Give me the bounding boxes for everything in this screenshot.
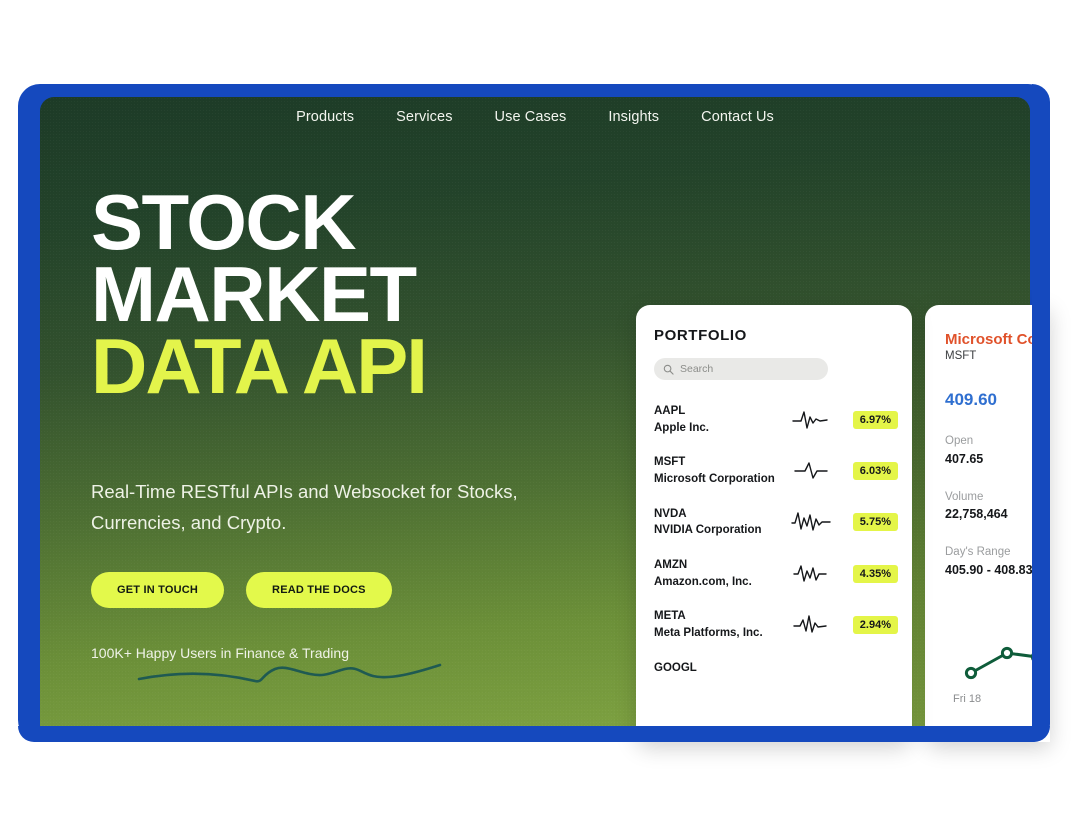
sparkline-icon — [792, 561, 832, 587]
row-sparkline-wrap — [778, 458, 847, 484]
sparkline-icon — [790, 509, 834, 535]
headline-line-3: DATA API — [91, 331, 426, 403]
table-row[interactable]: GOOGL — [636, 651, 912, 686]
row-company: Microsoft Corporation — [654, 471, 772, 488]
sparkline-icon — [793, 458, 831, 484]
sparkline-icon — [792, 612, 832, 638]
table-row[interactable]: AMZN Amazon.com, Inc. 4.35% — [636, 548, 912, 599]
read-the-docs-button[interactable]: READ THE DOCS — [246, 572, 392, 608]
status-badge: 5.75% — [853, 513, 898, 531]
cta-row: GET IN TOUCH READ THE DOCS — [91, 572, 392, 608]
search-placeholder: Search — [680, 363, 713, 375]
status-badge: 4.35% — [853, 565, 898, 583]
row-company: Apple Inc. — [654, 420, 772, 437]
nav-item-contact-us[interactable]: Contact Us — [701, 109, 774, 125]
headline-line-2: MARKET — [91, 259, 426, 331]
squiggle-underline-icon — [135, 657, 445, 697]
row-sparkline-wrap — [778, 612, 847, 638]
portfolio-title: PORTFOLIO — [654, 327, 912, 344]
portfolio-search-input[interactable]: Search — [654, 358, 828, 380]
status-badge: 6.03% — [853, 462, 898, 480]
sparkline-icon — [791, 407, 833, 433]
hero-subtitle: Real-Time RESTful APIs and Websocket for… — [91, 477, 561, 538]
row-company: Amazon.com, Inc. — [654, 574, 772, 591]
row-symbol: NVDA — [654, 506, 772, 523]
frame-bottom-edge — [18, 726, 1050, 742]
nav-item-insights[interactable]: Insights — [608, 109, 659, 125]
nav-item-use-cases[interactable]: Use Cases — [495, 109, 567, 125]
row-sparkline-wrap — [778, 407, 847, 433]
headline-line-1: STOCK — [91, 187, 426, 259]
social-proof-text: 100K+ Happy Users in Finance & Trading — [91, 645, 349, 661]
row-symbol: META — [654, 608, 772, 625]
status-badge: 2.94% — [853, 616, 898, 634]
table-row[interactable]: MSFT Microsoft Corporation 6.03% — [636, 445, 912, 496]
chart-axis-label: Fri 18 — [953, 693, 981, 705]
hero-headline: STOCK MARKET DATA API — [91, 187, 426, 402]
row-symbol: MSFT — [654, 454, 772, 471]
row-symbol: AMZN — [654, 557, 772, 574]
get-in-touch-button[interactable]: GET IN TOUCH — [91, 572, 224, 608]
main-nav: Products Services Use Cases Insights Con… — [40, 109, 1030, 125]
nav-item-services[interactable]: Services — [396, 109, 452, 125]
row-names: NVDA NVIDIA Corporation — [654, 506, 772, 539]
stock-list: AAPL Apple Inc. 6.97% MSFT Microsoft Cor… — [636, 394, 912, 685]
portfolio-card: PORTFOLIO Search AAPL Apple Inc. 6.97% — [636, 305, 912, 742]
row-names: MSFT Microsoft Corporation — [654, 454, 772, 487]
page-root: Products Services Use Cases Insights Con… — [0, 0, 1080, 835]
row-names: AMZN Amazon.com, Inc. — [654, 557, 772, 590]
row-names: META Meta Platforms, Inc. — [654, 608, 772, 641]
row-company: Meta Platforms, Inc. — [654, 625, 772, 642]
table-row[interactable]: NVDA NVIDIA Corporation 5.75% — [636, 497, 912, 548]
frame-right-edge — [1032, 84, 1050, 742]
row-names: GOOGL — [654, 660, 772, 677]
row-sparkline-wrap — [778, 509, 847, 535]
table-row[interactable]: META Meta Platforms, Inc. 2.94% — [636, 599, 912, 650]
nav-item-products[interactable]: Products — [296, 109, 354, 125]
row-symbol: GOOGL — [654, 660, 772, 677]
row-company: NVIDIA Corporation — [654, 522, 772, 539]
row-symbol: AAPL — [654, 403, 772, 420]
status-badge: 6.97% — [853, 411, 898, 429]
table-row[interactable]: AAPL Apple Inc. 6.97% — [636, 394, 912, 445]
row-names: AAPL Apple Inc. — [654, 403, 772, 436]
row-sparkline-wrap — [778, 561, 847, 587]
search-icon — [663, 364, 674, 375]
